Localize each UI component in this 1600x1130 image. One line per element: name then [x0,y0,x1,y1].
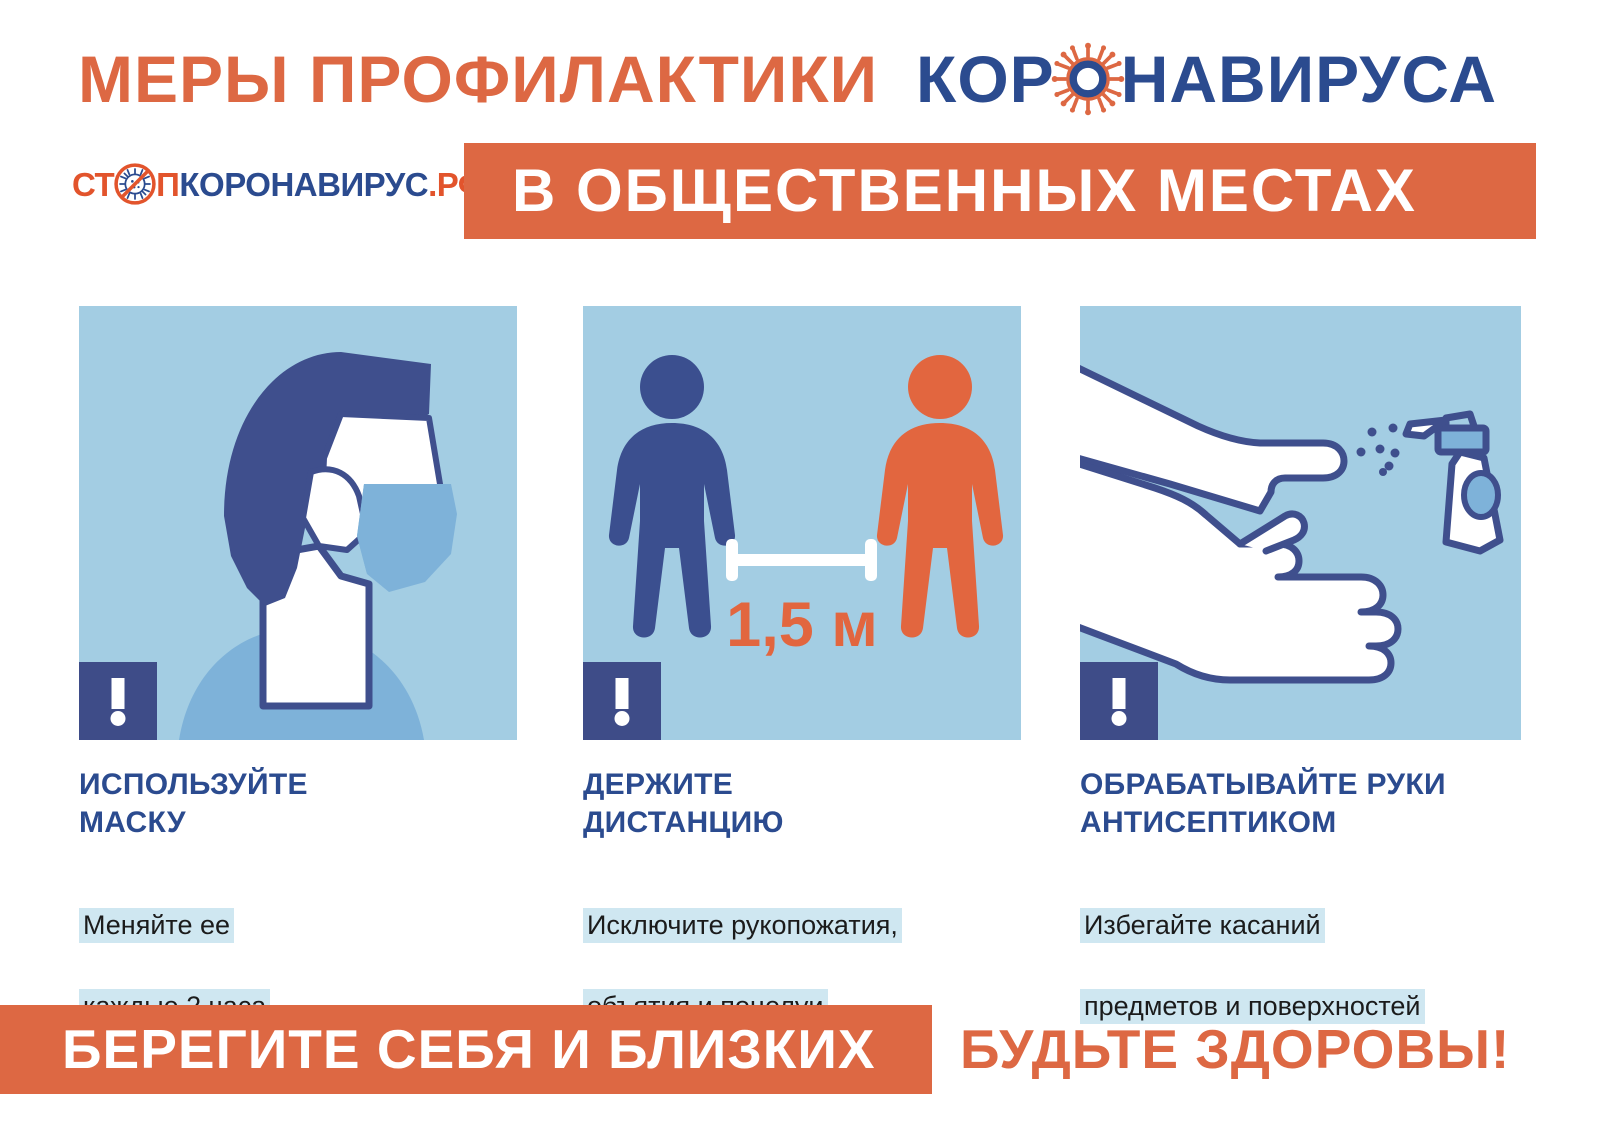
card-heading: ОБРАБАТЫВАЙТЕ РУКИ АНТИСЕПТИКОМ [1080,766,1521,843]
card-subtext-line-1: Избегайте касаний [1080,908,1325,943]
logo-part-koronavirus: КОРОНАВИРУС [179,168,428,201]
footer-left-slogan: БЕРЕГИТЕ СЕБЯ И БЛИЗКИХ [62,1005,876,1094]
exclamation-dot [615,711,630,726]
card-subtext: Избегайте касаний предметов и поверхност… [1080,865,1521,1027]
distance-label-text: 1,5 м [726,590,878,660]
exclamation-dot [1112,711,1127,726]
subtitle-banner: В ОБЩЕСТВЕННЫХ МЕСТАХ [464,143,1536,239]
exclamation-dot [111,711,126,726]
logo-part-p: П [156,168,179,201]
card-subtext: Меняйте ее каждые 2 часа [79,865,517,1027]
title-primary-text: МЕРЫ ПРОФИЛАКТИКИ [78,46,878,112]
footer-right-slogan: БУДЬТЕ ЗДОРОВЫ! [960,1005,1510,1094]
person-wearing-mask-illustration [79,306,517,740]
card-keep-distance: 1,5 м ДЕРЖИТЕ ДИСТАНЦИЮ Исключите рукопо… [583,306,1021,1027]
card-heading: ДЕРЖИТЕ ДИСТАНЦИЮ [583,766,1021,843]
card-subtext-line-1: Исключите рукопожатия, [583,908,902,943]
subtitle-text: В ОБЩЕСТВЕННЫХ МЕСТАХ [512,161,1417,221]
title-secondary-suffix: НАВИРУСА [1121,46,1497,112]
poster-title: МЕРЫ ПРОФИЛАКТИКИ КОР [78,36,1538,122]
card-use-mask: ИСПОЛЬЗУЙТЕ МАСКУ Меняйте ее каждые 2 ча… [79,306,517,1027]
exclamation-bar [616,678,629,709]
logo-part-st: СТ [72,168,114,201]
exclamation-bar [1113,678,1126,709]
coronavirus-icon [1051,42,1125,116]
stopkoronavirus-logo[interactable]: СТ [72,158,486,210]
poster-root: МЕРЫ ПРОФИЛАКТИКИ КОР [0,0,1600,1130]
stop-sign-virus-icon [113,162,157,206]
attention-badge [79,662,157,740]
card-subtext-line-1: Меняйте ее [79,908,234,943]
two-people-social-distance-illustration: 1,5 м [583,306,1021,740]
attention-badge [1080,662,1158,740]
logo-part-dot: . [428,168,437,201]
title-secondary-prefix: КОР [916,46,1055,112]
card-sanitize-hands: ОБРАБАТЫВАЙТЕ РУКИ АНТИСЕПТИКОМ Избегайт… [1080,306,1521,1027]
card-heading: ИСПОЛЬЗУЙТЕ МАСКУ [79,766,517,843]
advice-cards: ИСПОЛЬЗУЙТЕ МАСКУ Меняйте ее каждые 2 ча… [79,306,1521,946]
attention-badge [583,662,661,740]
card-subtext: Исключите рукопожатия, объятия и поцелуи [583,865,1021,1027]
logo-wordmark: СТ [72,162,486,206]
title-secondary-text: КОР [916,42,1497,116]
hands-with-antiseptic-spray-illustration [1080,306,1521,740]
exclamation-bar [112,678,125,709]
